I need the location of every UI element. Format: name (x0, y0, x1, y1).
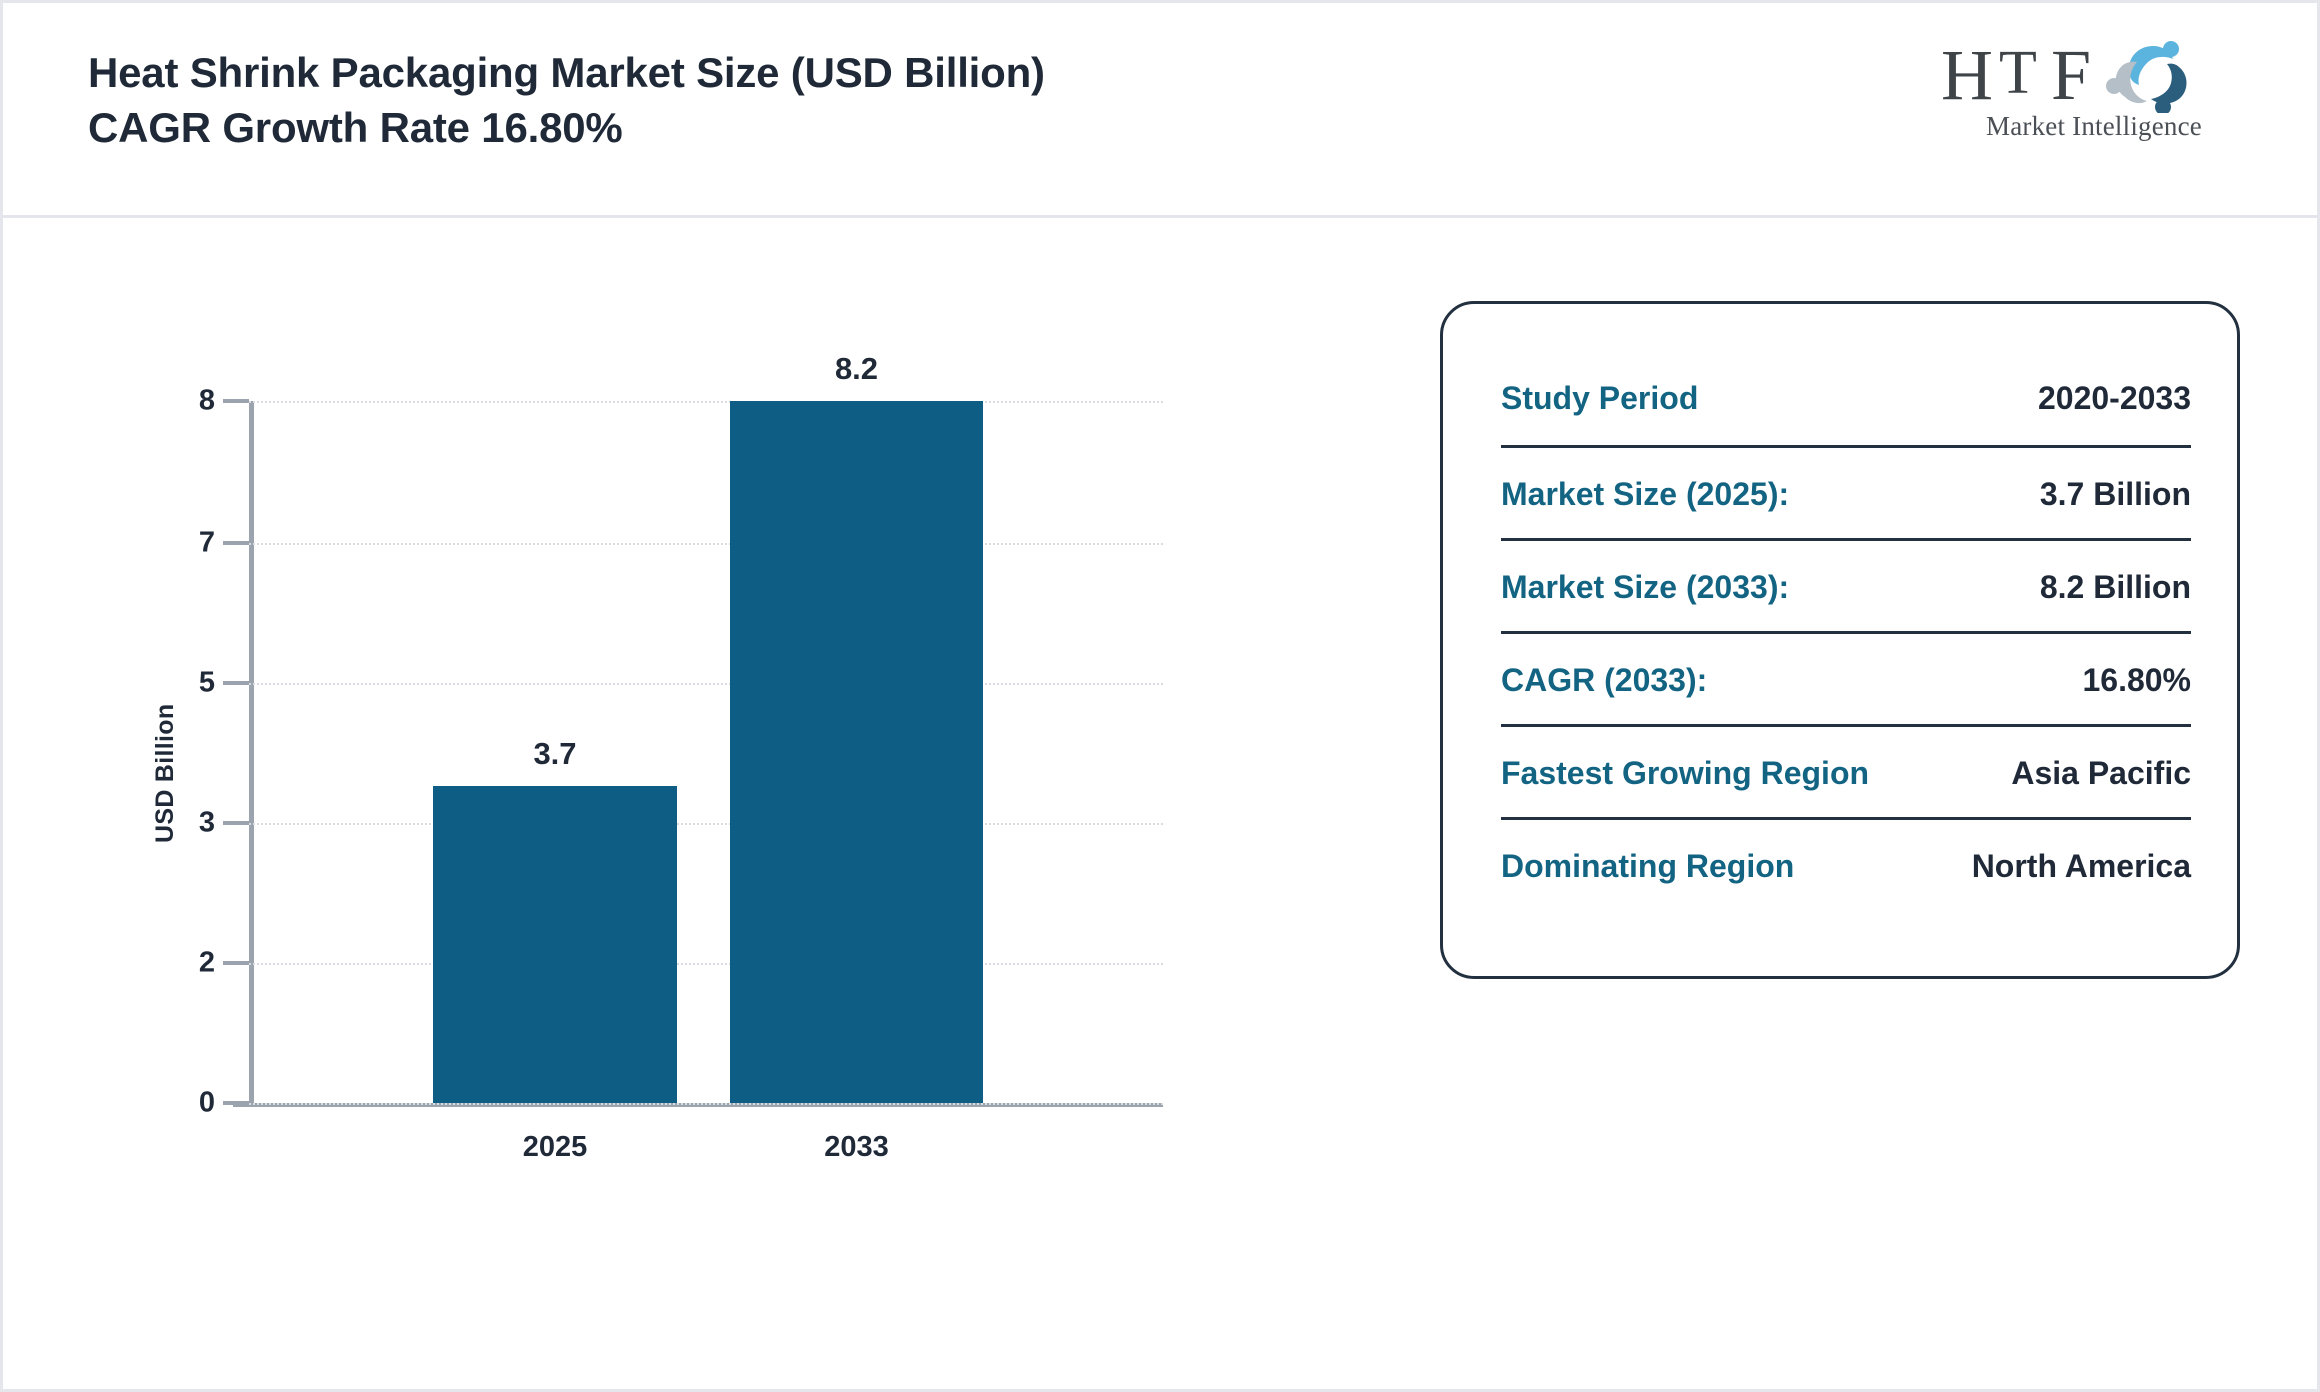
bar-value-label: 3.7 (533, 736, 576, 772)
row-label: Market Size (2025): (1501, 448, 1789, 513)
tick-mark (223, 541, 249, 545)
svg-text:H: H (1941, 35, 1993, 113)
row-value: North America (1972, 820, 2191, 885)
page-title: Heat Shrink Packaging Market Size (USD B… (88, 45, 1045, 156)
summary-row-fastest-growing-region: Fastest Growing Region Asia Pacific (1501, 724, 2191, 817)
tick-mark (223, 821, 249, 825)
y-tick-label: 3 (199, 807, 215, 840)
row-value: 2020-2033 (2038, 352, 2191, 417)
y-tick-label: 0 (199, 1087, 215, 1120)
page-title-line-2: CAGR Growth Rate 16.80% (88, 100, 1045, 155)
market-summary-card: Study Period 2020-2033 Market Size (2025… (1440, 301, 2240, 979)
htf-logo-svg: H T F (1929, 35, 2259, 113)
x-tick-label: 2033 (824, 1131, 889, 1164)
tick-mark (223, 1101, 249, 1105)
tick-mark (223, 399, 249, 403)
page-title-line-1: Heat Shrink Packaging Market Size (USD B… (88, 45, 1045, 100)
gridline (249, 543, 1163, 545)
summary-row-study-period: Study Period 2020-2033 (1501, 352, 2191, 445)
infographic-page: Heat Shrink Packaging Market Size (USD B… (0, 0, 2320, 1392)
gridline (249, 683, 1163, 685)
htf-logo-mark: H T F (1929, 35, 2259, 113)
y-tick-label: 5 (199, 667, 215, 700)
bar-2033[interactable]: 8.2 2033 (730, 401, 983, 1103)
htf-logo-tagline: Market Intelligence (1929, 111, 2259, 142)
row-label: Fastest Growing Region (1501, 727, 1869, 792)
row-value: 3.7 Billion (2040, 448, 2191, 513)
summary-row-dominating-region: Dominating Region North America (1501, 817, 2191, 910)
y-tick-label: 7 (199, 527, 215, 560)
header-bar: Heat Shrink Packaging Market Size (USD B… (3, 3, 2317, 218)
summary-rows: Study Period 2020-2033 Market Size (2025… (1501, 352, 2191, 910)
htf-logo: H T F Ma (1929, 35, 2259, 150)
y-axis-title: USD Billion (151, 704, 180, 843)
summary-row-cagr: CAGR (2033): 16.80% (1501, 631, 2191, 724)
summary-row-market-size-2025: Market Size (2025): 3.7 Billion (1501, 445, 2191, 538)
plot-area: 8 7 5 3 2 (249, 401, 1163, 1103)
gridline (249, 823, 1163, 825)
tick-mark (223, 961, 249, 965)
bar-chart: USD Billion 8 7 5 (3, 218, 1423, 1392)
gridline (249, 401, 1163, 403)
row-label: Dominating Region (1501, 820, 1794, 885)
y-tick-label: 2 (199, 947, 215, 980)
three-people-emblem (2106, 41, 2187, 113)
row-label: Market Size (2033): (1501, 541, 1789, 606)
svg-text:T: T (1999, 39, 2037, 107)
bar-2025[interactable]: 3.7 2025 (433, 786, 677, 1103)
gridline (249, 963, 1163, 965)
row-label: Study Period (1501, 352, 1698, 417)
y-tick-label: 8 (199, 385, 215, 418)
tick-mark (223, 681, 249, 685)
row-value: Asia Pacific (2011, 727, 2191, 792)
bar-value-label: 8.2 (835, 351, 878, 387)
gridline (249, 1103, 1163, 1105)
summary-row-market-size-2033: Market Size (2033): 8.2 Billion (1501, 538, 2191, 631)
y-axis-line (249, 401, 254, 1103)
row-value: 8.2 Billion (2040, 541, 2191, 606)
x-tick-label: 2025 (523, 1131, 588, 1164)
row-label: CAGR (2033): (1501, 634, 1707, 699)
svg-text:F: F (2051, 35, 2091, 113)
row-value: 16.80% (2082, 634, 2191, 699)
